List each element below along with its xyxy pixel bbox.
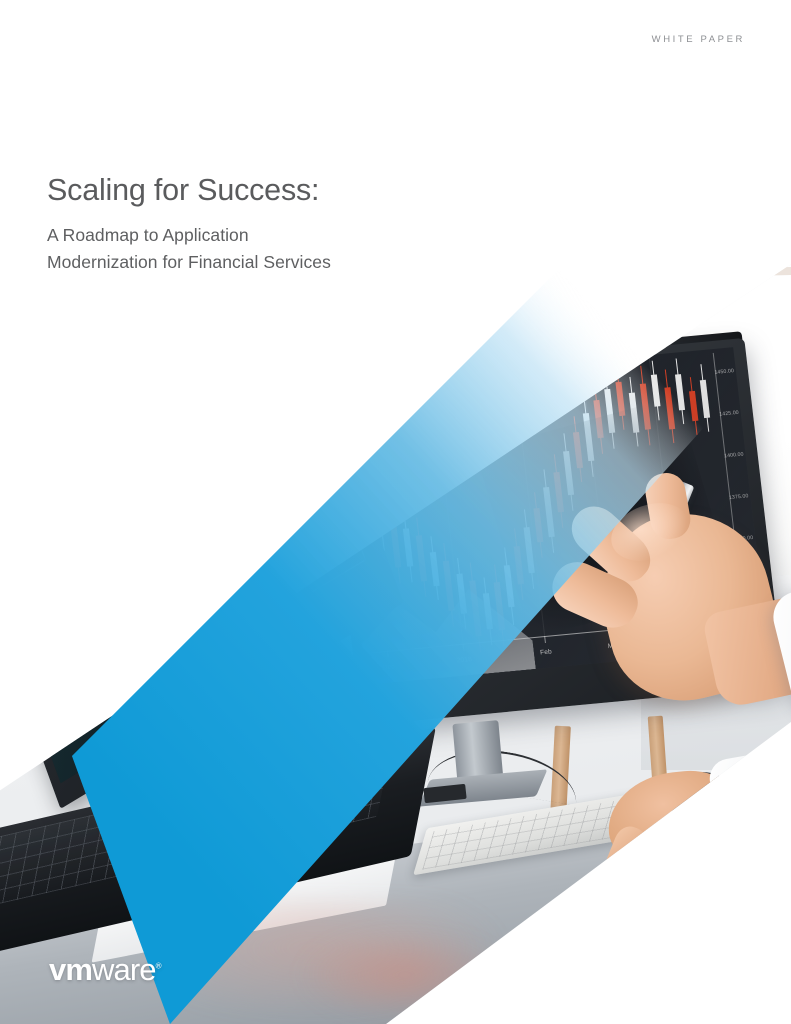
page-subtitle-line-1: A Roadmap to Application [47, 222, 467, 249]
candlestick [37, 524, 116, 729]
candle-wick [24, 587, 50, 656]
candle-body [196, 548, 219, 598]
chart-x-tick [544, 636, 546, 643]
candlestick [83, 497, 162, 702]
candle-body [237, 507, 256, 545]
candle-body [186, 573, 204, 609]
candle-wick [82, 591, 111, 668]
candle-body [64, 599, 82, 635]
chart-x-label: Feb [540, 648, 553, 656]
candle-body [416, 535, 427, 581]
chart-price-label: 1425.00 [719, 410, 739, 418]
candle-body [376, 501, 385, 531]
candle-wick [216, 548, 241, 616]
registered-trademark-icon: ® [156, 962, 161, 971]
candle-body [219, 562, 238, 602]
page-subtitle-line-2: Modernization for Financial Services [47, 249, 467, 276]
chart-price-badge: 1486.00 [338, 524, 365, 546]
candle-body [361, 478, 372, 522]
candlestick-chart-monitor: Dec2018FebMarAprMay1450.001425.001400.00… [332, 347, 733, 385]
candlestick [114, 478, 193, 683]
candle-body [389, 516, 401, 568]
vmware-logo: vmware® [49, 954, 161, 985]
candle-wick [106, 605, 131, 673]
document-type-label: WHITE PAPER [652, 34, 745, 45]
candle-wick [192, 532, 221, 611]
candle-body [430, 552, 440, 586]
candle-wick [116, 581, 146, 662]
candle-body [163, 561, 183, 603]
candle-body [246, 480, 269, 531]
candle-body [689, 391, 698, 421]
candlestick [52, 515, 131, 720]
candlestick-chart-laptop: OctNovDec1600.001560.001520.001486.00 [0, 365, 308, 562]
candle-wick [149, 570, 177, 645]
candlestick [129, 469, 208, 674]
chart-price-label: 1560.00 [315, 442, 336, 459]
candlestick [206, 422, 285, 627]
vmware-logo-ware: ware [92, 952, 156, 987]
cover-photo: Dec2018FebMarAprMay1450.001425.001400.00… [0, 0, 791, 1024]
candlestick [21, 534, 100, 739]
candle-wick [139, 594, 163, 658]
candle-wick [61, 585, 84, 647]
candle-wick [234, 493, 258, 557]
candle-body [86, 607, 108, 655]
candle-body [109, 619, 128, 659]
candlestick [68, 506, 147, 711]
candle-wick [243, 465, 273, 546]
candlestick [191, 432, 270, 637]
candle-wick [160, 547, 186, 616]
chart-price-axis [299, 377, 366, 560]
white-paper-cover-page: WHITE PAPER Dec2018FebMarAprMay1450.0014… [0, 0, 791, 1024]
candle-wick [36, 568, 67, 651]
candlestick [222, 413, 301, 618]
pointing-hand [560, 455, 791, 710]
cover-photo-scene: Dec2018FebMarAprMay1450.001425.001400.00… [0, 0, 791, 1024]
candlestick [160, 450, 239, 655]
chart-price-label: 1600.00 [298, 396, 319, 413]
vmware-logo-vm: vm [49, 952, 92, 987]
candlestick [6, 543, 85, 748]
shirt-cuff [707, 743, 791, 878]
candle-body [403, 528, 413, 566]
typing-hand [588, 760, 788, 910]
page-title: Scaling for Success: [47, 172, 467, 209]
candlestick [176, 441, 255, 646]
title-block: Scaling for Success: A Roadmap to Applic… [47, 172, 467, 275]
candle-body [700, 380, 710, 418]
chart-price-label: 1520.00 [332, 488, 353, 505]
desk-light-glare [300, 930, 510, 1020]
candle-body [229, 535, 250, 579]
candlestick [145, 460, 224, 665]
chart-price-label: 1450.00 [714, 368, 734, 376]
candle-wick [225, 519, 252, 592]
candlestick [98, 487, 177, 692]
candle-body [27, 600, 47, 642]
hand-palm [603, 765, 754, 875]
candle-wick [361, 458, 373, 553]
candle-body [39, 584, 63, 637]
candle-body [142, 608, 161, 646]
finger [634, 828, 673, 884]
candle-wick [183, 559, 206, 621]
candle-body [153, 585, 174, 631]
candle-body [119, 596, 142, 647]
